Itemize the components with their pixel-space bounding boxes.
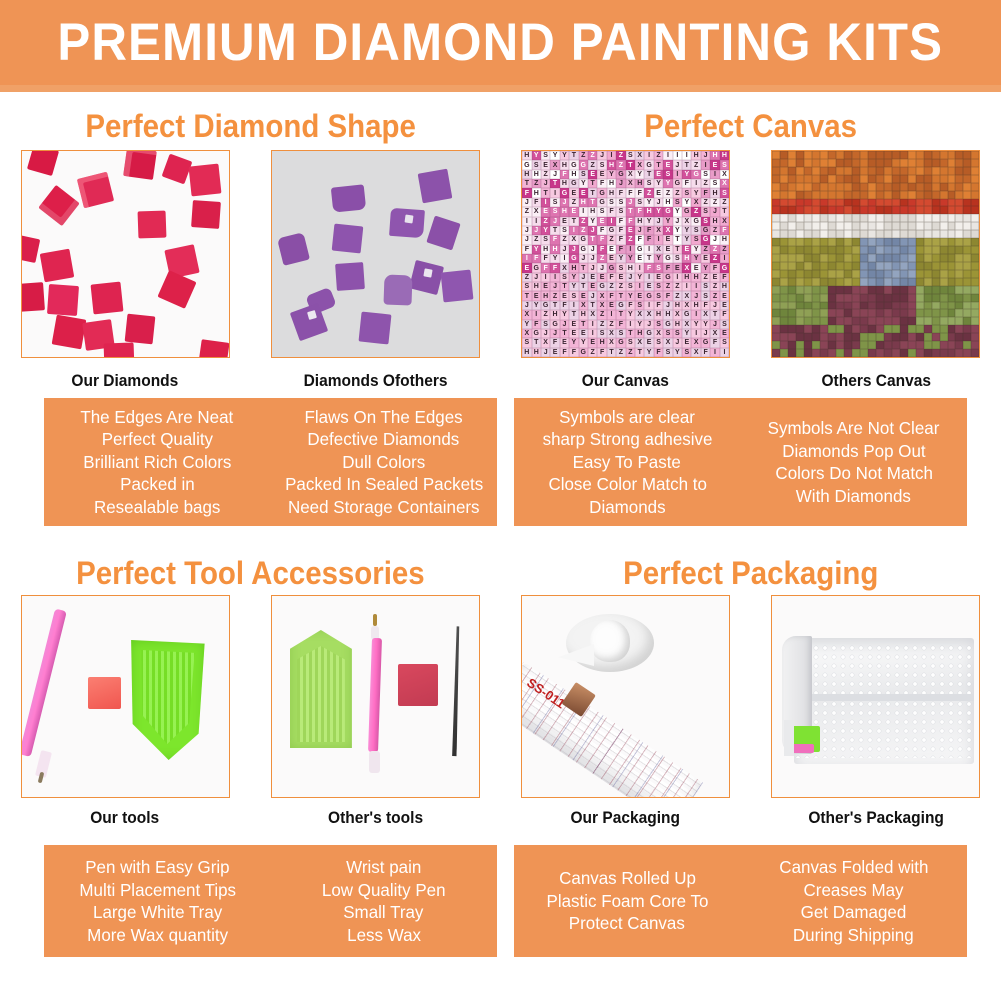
canvas-blur-cell (844, 214, 852, 222)
canvas-blur-cell (884, 294, 892, 302)
canvas-symbol-cell: S (522, 282, 531, 291)
canvas-blur-cell (812, 199, 820, 207)
canvas-symbol-cell: H (663, 310, 672, 319)
canvas-blur-cell (924, 254, 932, 262)
canvas-blur-cell (908, 151, 916, 159)
canvas-blur-cell (820, 302, 828, 310)
panel-line: The Edges Are Neat (81, 406, 234, 429)
canvas-blur-cell (916, 341, 924, 349)
canvas-blur-cell (948, 175, 956, 183)
canvas-blur-cell (804, 246, 812, 254)
canvas-symbol-cell: I (673, 151, 682, 160)
canvas-symbol-cell: Z (626, 235, 635, 244)
canvas-blur-cell (876, 254, 884, 262)
canvas-blur-cell (796, 349, 804, 357)
canvas-blur-cell (836, 238, 844, 246)
canvas-blur-cell (804, 286, 812, 294)
canvas-blur-cell (852, 302, 860, 310)
canvas-symbol-cell: E (579, 188, 588, 197)
canvas-symbol-cell: H (541, 245, 550, 254)
canvas-symbol-cell: J (588, 254, 597, 263)
canvas-symbol-cell: J (616, 179, 625, 188)
canvas-symbol-cell: F (616, 320, 625, 329)
canvas-blur-cell (820, 214, 828, 222)
canvas-blur-cell (772, 183, 780, 191)
canvas-symbol-cell: Y (682, 170, 691, 179)
canvas-symbol-cell: H (691, 151, 700, 160)
canvas-blur-cell (971, 286, 979, 294)
canvas-blur-cell (908, 309, 916, 317)
panel-line: Perfect Quality (102, 428, 213, 451)
canvas-symbol-cell: E (654, 273, 663, 282)
canvas-symbol-cell: H (532, 348, 541, 357)
canvas-symbol-cell: T (588, 301, 597, 310)
canvas-symbol-cell: Z (522, 273, 531, 282)
canvas-blur-cell (836, 294, 844, 302)
canvas-blur-cell (836, 246, 844, 254)
canvas-blur-cell (860, 309, 868, 317)
canvas-blur-cell (940, 191, 948, 199)
canvas-blur-cell (963, 294, 971, 302)
canvas-blur-cell (820, 325, 828, 333)
canvas-blur-cell (948, 167, 956, 175)
canvas-symbol-cell: I (522, 217, 531, 226)
canvas-blur-cell (844, 151, 852, 159)
canvas-blur-cell (828, 262, 836, 270)
canvas-symbol-cell: G (673, 179, 682, 188)
canvas-blur-cell (796, 167, 804, 175)
canvas-blur-cell (780, 278, 788, 286)
canvas-blur-cell (804, 341, 812, 349)
canvas-blur-cell (844, 254, 852, 262)
panel-line: Packed In Sealed Packets (285, 473, 483, 496)
canvas-blur-cell (780, 183, 788, 191)
panel-line: During Shipping (793, 924, 914, 947)
canvas-symbol-cell: E (588, 170, 597, 179)
canvas-symbol-cell: F (663, 263, 672, 272)
canvas-symbol-cell: T (569, 217, 578, 226)
canvas-blur-cell (876, 206, 884, 214)
canvas-blur-cell (948, 214, 956, 222)
canvas-blur-cell (908, 199, 916, 207)
canvas-symbol-cell: H (710, 151, 719, 160)
canvas-symbol-cell: Y (626, 254, 635, 263)
canvas-symbol-cell: I (720, 254, 729, 263)
canvas-blur-cell (924, 317, 932, 325)
canvas-symbol-cell: J (644, 320, 653, 329)
canvas-blur-cell (812, 317, 820, 325)
canvas-blur-cell (900, 151, 908, 159)
canvas-blur-cell (963, 238, 971, 246)
canvas-symbol-cell: H (550, 310, 559, 319)
canvas-blur-cell (828, 333, 836, 341)
canvas-symbol-cell: F (701, 301, 710, 310)
canvas-blur-cell (955, 254, 963, 262)
canvas-blur-cell (772, 230, 780, 238)
canvas-blur-cell (971, 333, 979, 341)
canvas-symbol-cell: X (635, 338, 644, 347)
canvas-blur-cell (772, 175, 780, 183)
canvas-symbol-cell: X (682, 301, 691, 310)
canvas-symbol-cell: G (682, 310, 691, 319)
canvas-symbol-cell: T (588, 188, 597, 197)
canvas-blur-cell (788, 302, 796, 310)
canvas-symbol-cell: G (691, 217, 700, 226)
canvas-blur-cell (788, 199, 796, 207)
canvas-blur-cell (804, 278, 812, 286)
canvas-blur-cell (963, 254, 971, 262)
canvas-symbol-cell: S (597, 160, 606, 169)
canvas-blur-cell (812, 302, 820, 310)
canvas-blur-cell (916, 183, 924, 191)
canvas-blur-cell (884, 286, 892, 294)
panel-line: Wrist pain (346, 856, 421, 879)
canvas-symbol-cell: J (550, 217, 559, 226)
canvas-symbol-cell: Z (597, 320, 606, 329)
canvas-symbol-cell: S (654, 291, 663, 300)
canvas-symbol-cell: X (663, 338, 672, 347)
canvas-symbol-cell: Z (579, 226, 588, 235)
canvas-blur-cell (836, 278, 844, 286)
canvas-blur-cell (844, 302, 852, 310)
canvas-blur-cell (908, 206, 916, 214)
canvas-blur-cell (892, 214, 900, 222)
canvas-symbol-cell: Y (541, 226, 550, 235)
canvas-symbol-cell: S (644, 179, 653, 188)
canvas-blur-cell (932, 302, 940, 310)
canvas-symbol-cell: Y (682, 226, 691, 235)
canvas-blur-cell (796, 222, 804, 230)
canvas-blur-cell (876, 302, 884, 310)
canvas-blur-cell (844, 246, 852, 254)
canvas-blur-cell (820, 199, 828, 207)
canvas-blur-cell (940, 278, 948, 286)
canvas-blur-cell (971, 199, 979, 207)
canvas-blur-cell (940, 294, 948, 302)
canvas-blur-cell (796, 183, 804, 191)
canvas-blur-cell (852, 262, 860, 270)
canvas-blur-cell (812, 254, 820, 262)
canvas-blur-cell (804, 199, 812, 207)
panel-column-others: Flaws On The Edges Defective Diamonds Du… (271, 398, 498, 526)
canvas-blur-cell (924, 302, 932, 310)
canvas-blur-cell (836, 151, 844, 159)
canvas-blur-cell (940, 238, 948, 246)
canvas-symbol-cell: G (532, 329, 541, 338)
canvas-blur-cell (844, 270, 852, 278)
canvas-symbol-cell: S (626, 151, 635, 160)
canvas-blur-cell (963, 262, 971, 270)
canvas-blur-cell (820, 278, 828, 286)
panel-column-ours: The Edges Are Neat Perfect Quality Brill… (44, 398, 271, 526)
canvas-symbol-cell: H (532, 170, 541, 179)
canvas-symbol-cell: I (550, 188, 559, 197)
canvas-symbol-cell: E (569, 188, 578, 197)
canvas-blur-cell (940, 325, 948, 333)
canvas-blur-cell (796, 159, 804, 167)
canvas-blur-cell (908, 341, 916, 349)
canvas-blur-cell (820, 246, 828, 254)
canvas-symbol-cell: H (597, 338, 606, 347)
canvas-blur-cell (836, 302, 844, 310)
canvas-blur-cell (796, 333, 804, 341)
canvas-blur-cell (852, 199, 860, 207)
canvas-symbol-cell: X (654, 329, 663, 338)
canvas-blur-cell (780, 325, 788, 333)
canvas-symbol-cell: J (597, 263, 606, 272)
canvas-symbol-cell: F (597, 235, 606, 244)
canvas-symbol-cell: E (597, 273, 606, 282)
canvas-blur-cell (828, 246, 836, 254)
canvas-blur-cell (916, 191, 924, 199)
canvas-blur-cell (780, 214, 788, 222)
canvas-blur-cell (876, 294, 884, 302)
canvas-blur-cell (876, 349, 884, 357)
canvas-symbol-cell: J (588, 245, 597, 254)
canvas-blur-cell (844, 238, 852, 246)
canvas-blur-cell (868, 159, 876, 167)
canvas-symbol-cell: T (626, 160, 635, 169)
canvas-blur-cell (868, 270, 876, 278)
canvas-symbol-cell: J (701, 329, 710, 338)
canvas-symbol-cell: H (710, 188, 719, 197)
canvas-blur-cell (860, 286, 868, 294)
canvas-blur-cell (916, 246, 924, 254)
canvas-symbol-cell: E (569, 329, 578, 338)
canvas-blur-cell (860, 333, 868, 341)
canvas-blur-cell (812, 175, 820, 183)
canvas-blur-cell (900, 183, 908, 191)
canvas-symbol-cell: I (691, 329, 700, 338)
canvas-blur-cell (860, 254, 868, 262)
canvas-symbol-cell: J (691, 291, 700, 300)
canvas-blur-cell (796, 262, 804, 270)
canvas-blur-cell (804, 191, 812, 199)
canvas-blur-cell (780, 175, 788, 183)
canvas-blur-cell (971, 159, 979, 167)
canvas-blur-cell (948, 278, 956, 286)
canvas-symbol-cell: H (560, 160, 569, 169)
canvas-blur-cell (892, 341, 900, 349)
canvas-blur-cell (948, 254, 956, 262)
canvas-blur-cell (852, 167, 860, 175)
canvas-symbol-cell: J (654, 198, 663, 207)
canvas-blur-cell (971, 349, 979, 357)
canvas-symbol-cell: X (607, 329, 616, 338)
canvas-symbol-cell: Y (560, 151, 569, 160)
canvas-symbol-cell: J (588, 226, 597, 235)
canvas-blur-cell (924, 246, 932, 254)
canvas-symbol-cell: X (635, 310, 644, 319)
canvas-symbol-cell: F (560, 348, 569, 357)
canvas-blur-cell (836, 230, 844, 238)
canvas-blur-cell (860, 175, 868, 183)
canvas-blur-cell (836, 159, 844, 167)
canvas-blur-cell (796, 278, 804, 286)
canvas-blur-cell (932, 159, 940, 167)
canvas-symbol-cell: S (635, 301, 644, 310)
canvas-symbol-cell: J (569, 245, 578, 254)
canvas-blur-cell (820, 183, 828, 191)
canvas-symbol-cell: X (522, 329, 531, 338)
canvas-blur-cell (828, 317, 836, 325)
canvas-symbol-cell: Z (579, 217, 588, 226)
canvas-blur-cell (828, 349, 836, 357)
canvas-symbol-cell: I (682, 151, 691, 160)
canvas-blur-cell (860, 151, 868, 159)
section-heading-tool-accessories: Perfect Tool Accessories (0, 551, 501, 595)
canvas-blur-cell (812, 191, 820, 199)
canvas-blur-cell (860, 238, 868, 246)
canvas-symbol-cell: G (597, 188, 606, 197)
canvas-symbol-cell: I (569, 226, 578, 235)
panel-line: Get Damaged (801, 901, 907, 924)
photo-cell-other-packaging: Other's Packaging (751, 595, 1001, 828)
canvas-blur-cell (780, 254, 788, 262)
canvas-blur-cell (908, 246, 916, 254)
canvas-symbol-cell: H (720, 282, 729, 291)
canvas-blur-cell (860, 349, 868, 357)
canvas-blur-cell (860, 230, 868, 238)
canvas-blur-cell (932, 199, 940, 207)
canvas-blur-cell (812, 151, 820, 159)
canvas-symbol-cell: G (522, 160, 531, 169)
canvas-blur-cell (852, 333, 860, 341)
canvas-blur-cell (940, 333, 948, 341)
canvas-symbol-cell: Z (607, 235, 616, 244)
canvas-blur-cell (828, 151, 836, 159)
canvas-blur-cell (788, 270, 796, 278)
canvas-symbol-cell: H (588, 207, 597, 216)
canvas-blur-cell (900, 294, 908, 302)
canvas-blur-cell (955, 230, 963, 238)
canvas-blur-cell (971, 191, 979, 199)
comparison-panel-tool-accessories: Pen with Easy Grip Multi Placement Tips … (44, 845, 497, 957)
canvas-symbol-cell: T (635, 348, 644, 357)
photo-caption: Our Diamonds (72, 372, 179, 391)
canvas-blur-cell (868, 230, 876, 238)
canvas-symbol-cell: S (682, 188, 691, 197)
canvas-blur-cell (924, 214, 932, 222)
canvas-blur-cell (948, 309, 956, 317)
canvas-blur-cell (828, 199, 836, 207)
canvas-blur-cell (916, 167, 924, 175)
canvas-blur-cell (908, 175, 916, 183)
canvas-blur-cell (908, 286, 916, 294)
canvas-blur-cell (924, 325, 932, 333)
canvas-symbol-cell: S (701, 291, 710, 300)
canvas-symbol-cell: E (541, 160, 550, 169)
canvas-blur-cell (860, 214, 868, 222)
canvas-blur-cell (828, 294, 836, 302)
canvas-symbol-cell: H (691, 301, 700, 310)
canvas-blur-cell (788, 183, 796, 191)
canvas-blur-cell (852, 206, 860, 214)
canvas-symbol-cell: X (550, 160, 559, 169)
canvas-blur-cell (780, 333, 788, 341)
panel-line: Symbols Are Not Clear (768, 417, 940, 440)
canvas-symbol-cell: Z (701, 273, 710, 282)
canvas-symbol-cell: F (550, 338, 559, 347)
canvas-blur-cell (812, 286, 820, 294)
canvas-blur-cell (860, 206, 868, 214)
canvas-blur-cell (940, 183, 948, 191)
canvas-blur-cell (868, 294, 876, 302)
canvas-blur-cell (860, 191, 868, 199)
canvas-symbol-cell: E (616, 273, 625, 282)
canvas-symbol-cell: I (522, 254, 531, 263)
canvas-symbol-cell: G (579, 160, 588, 169)
canvas-symbol-cell: S (673, 198, 682, 207)
canvas-symbol-cell: Z (550, 291, 559, 300)
canvas-blur-cell (963, 317, 971, 325)
canvas-symbol-cell: T (626, 329, 635, 338)
canvas-blur-cell (852, 222, 860, 230)
canvas-blur-cell (892, 230, 900, 238)
canvas-blur-cell (828, 309, 836, 317)
canvas-symbol-cell: F (616, 245, 625, 254)
canvas-blur-cell (876, 199, 884, 207)
canvas-symbol-cell: I (635, 282, 644, 291)
canvas-blur-cell (955, 222, 963, 230)
canvas-symbol-cell: Y (550, 151, 559, 160)
canvas-blur-cell (796, 230, 804, 238)
canvas-blur-cell (908, 349, 916, 357)
canvas-symbol-cell: G (644, 291, 653, 300)
canvas-blur-cell (932, 333, 940, 341)
canvas-blur-cell (892, 317, 900, 325)
panel-line: Large White Tray (93, 901, 222, 924)
canvas-blur-cell (948, 222, 956, 230)
canvas-symbol-cell: F (720, 310, 729, 319)
canvas-blur-cell (955, 175, 963, 183)
canvas-blur-cell (940, 254, 948, 262)
canvas-blur-cell (844, 309, 852, 317)
canvas-blur-cell (828, 278, 836, 286)
canvas-symbol-cell: F (654, 301, 663, 310)
panel-line: Canvas Rolled Up (559, 867, 696, 890)
canvas-symbol-cell: X (663, 226, 672, 235)
canvas-blur-cell (812, 325, 820, 333)
canvas-symbol-cell: F (616, 188, 625, 197)
canvas-blur-cell (868, 151, 876, 159)
canvas-blur-cell (780, 246, 788, 254)
canvas-symbol-cell: E (635, 291, 644, 300)
canvas-blur-cell (963, 302, 971, 310)
canvas-blur-cell (812, 246, 820, 254)
canvas-blur-cell (876, 191, 884, 199)
canvas-symbol-cell: Z (626, 348, 635, 357)
canvas-blur-cell (955, 302, 963, 310)
canvas-blur-cell (772, 270, 780, 278)
canvas-symbol-cell: E (607, 301, 616, 310)
canvas-symbol-cell: G (663, 320, 672, 329)
canvas-symbol-cell: J (541, 179, 550, 188)
section-heading-diamond-shape: Perfect Diamond Shape (0, 104, 501, 148)
canvas-blur-cell (955, 151, 963, 159)
canvas-blur-cell (908, 333, 916, 341)
canvas-symbol-cell: H (691, 273, 700, 282)
canvas-symbol-cell: H (522, 170, 531, 179)
canvas-symbol-cell: E (541, 282, 550, 291)
canvas-symbol-cell: E (532, 291, 541, 300)
section-heading-text: Perfect Packaging (623, 555, 878, 592)
canvas-symbol-cell: S (654, 338, 663, 347)
canvas-blur-cell (971, 317, 979, 325)
canvas-symbol-cell: S (550, 207, 559, 216)
canvas-symbol-cell: I (710, 170, 719, 179)
canvas-symbol-cell: I (673, 170, 682, 179)
